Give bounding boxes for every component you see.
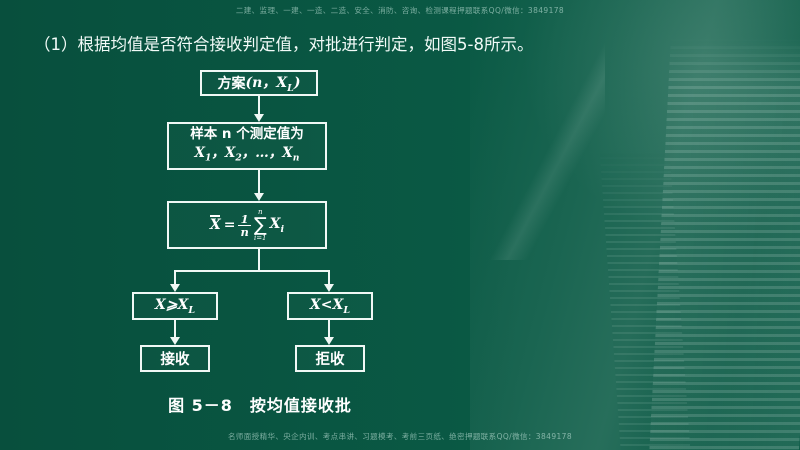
sigma-icon: ∑ xyxy=(254,216,267,235)
x-bar: X xyxy=(210,217,221,233)
condition-ge-expression: X⩾XL xyxy=(155,297,195,316)
connector-branch-right xyxy=(328,270,330,284)
flow-node-mean-formula: X = 1 n n ∑ i=1 Xi xyxy=(167,201,327,249)
paragraph-text: （1）根据均值是否符合接收判定值，对批进行判定，如图5-8所示。 xyxy=(34,35,533,54)
summation-operator: n ∑ i=1 xyxy=(254,209,267,242)
flow-node-plan-label: 方案 xyxy=(218,73,246,93)
background-tower-secondary xyxy=(600,150,691,450)
flow-node-accept-label: 接收 xyxy=(161,348,190,369)
flow-node-reject-label: 拒收 xyxy=(316,348,345,369)
connector-mean-to-branch xyxy=(258,249,260,272)
fraction-denominator: n xyxy=(238,225,250,238)
arrowhead-branch-right xyxy=(324,284,334,292)
flow-node-sample-line1: 样本 n 个测定值为 xyxy=(190,125,304,144)
slide-canvas: 二建、监理、一建、一造、二造、安全、消防、咨询、检测课程押题联系QQ/微信：38… xyxy=(0,0,800,450)
watermark-top: 二建、监理、一建、一造、二造、安全、消防、咨询、检测课程押题联系QQ/微信：38… xyxy=(0,5,800,16)
flow-node-plan: 方案(n，XL) xyxy=(200,70,318,96)
flow-node-sample-line2: X1，X2，…，Xn xyxy=(195,144,300,168)
arrowhead-plan-to-sample xyxy=(254,114,264,122)
condition-lt-expression: X<XL xyxy=(310,297,350,316)
flow-node-reject: 拒收 xyxy=(295,345,365,372)
background-sheen xyxy=(470,0,800,450)
background-tower-primary xyxy=(649,38,800,450)
fraction-numerator: 1 xyxy=(239,213,251,225)
summation-lower-limit: i=1 xyxy=(254,235,267,242)
flow-node-condition-ge: X⩾XL xyxy=(132,292,218,320)
arrowhead-branch-left xyxy=(170,284,180,292)
arrowhead-lt-to-reject xyxy=(324,337,334,345)
flow-node-sample: 样本 n 个测定值为 X1，X2，…，Xn xyxy=(167,122,327,170)
connector-sample-to-mean xyxy=(258,170,260,193)
arrowhead-ge-to-accept xyxy=(170,337,180,345)
summation-term: Xi xyxy=(270,216,285,235)
mean-formula: X = 1 n n ∑ i=1 Xi xyxy=(210,209,284,242)
flowchart-diagram: 方案(n，XL) 样本 n 个测定值为 X1，X2，…，Xn X = 1 n n… xyxy=(110,60,410,390)
watermark-bottom: 名师面授精华、央企内训、考点串讲、习题模考、考前三页纸、绝密押题联系QQ/微信：… xyxy=(0,431,800,442)
flow-node-plan-args: (n，XL) xyxy=(246,72,301,94)
flow-node-condition-lt: X<XL xyxy=(287,292,373,320)
connector-lt-to-reject xyxy=(328,320,330,337)
connector-plan-to-sample xyxy=(258,96,260,114)
lead-paragraph: （1）根据均值是否符合接收判定值，对批进行判定，如图5-8所示。 xyxy=(34,30,594,59)
fraction-one-over-n: 1 n xyxy=(238,213,250,238)
connector-branch-horizontal xyxy=(174,270,330,272)
flow-node-accept: 接收 xyxy=(140,345,210,372)
equals-sign: = xyxy=(224,217,236,233)
figure-caption: 图 5－8 按均值接收批 xyxy=(110,392,410,416)
connector-ge-to-accept xyxy=(174,320,176,337)
arrowhead-sample-to-mean xyxy=(254,193,264,201)
connector-branch-left xyxy=(174,270,176,284)
